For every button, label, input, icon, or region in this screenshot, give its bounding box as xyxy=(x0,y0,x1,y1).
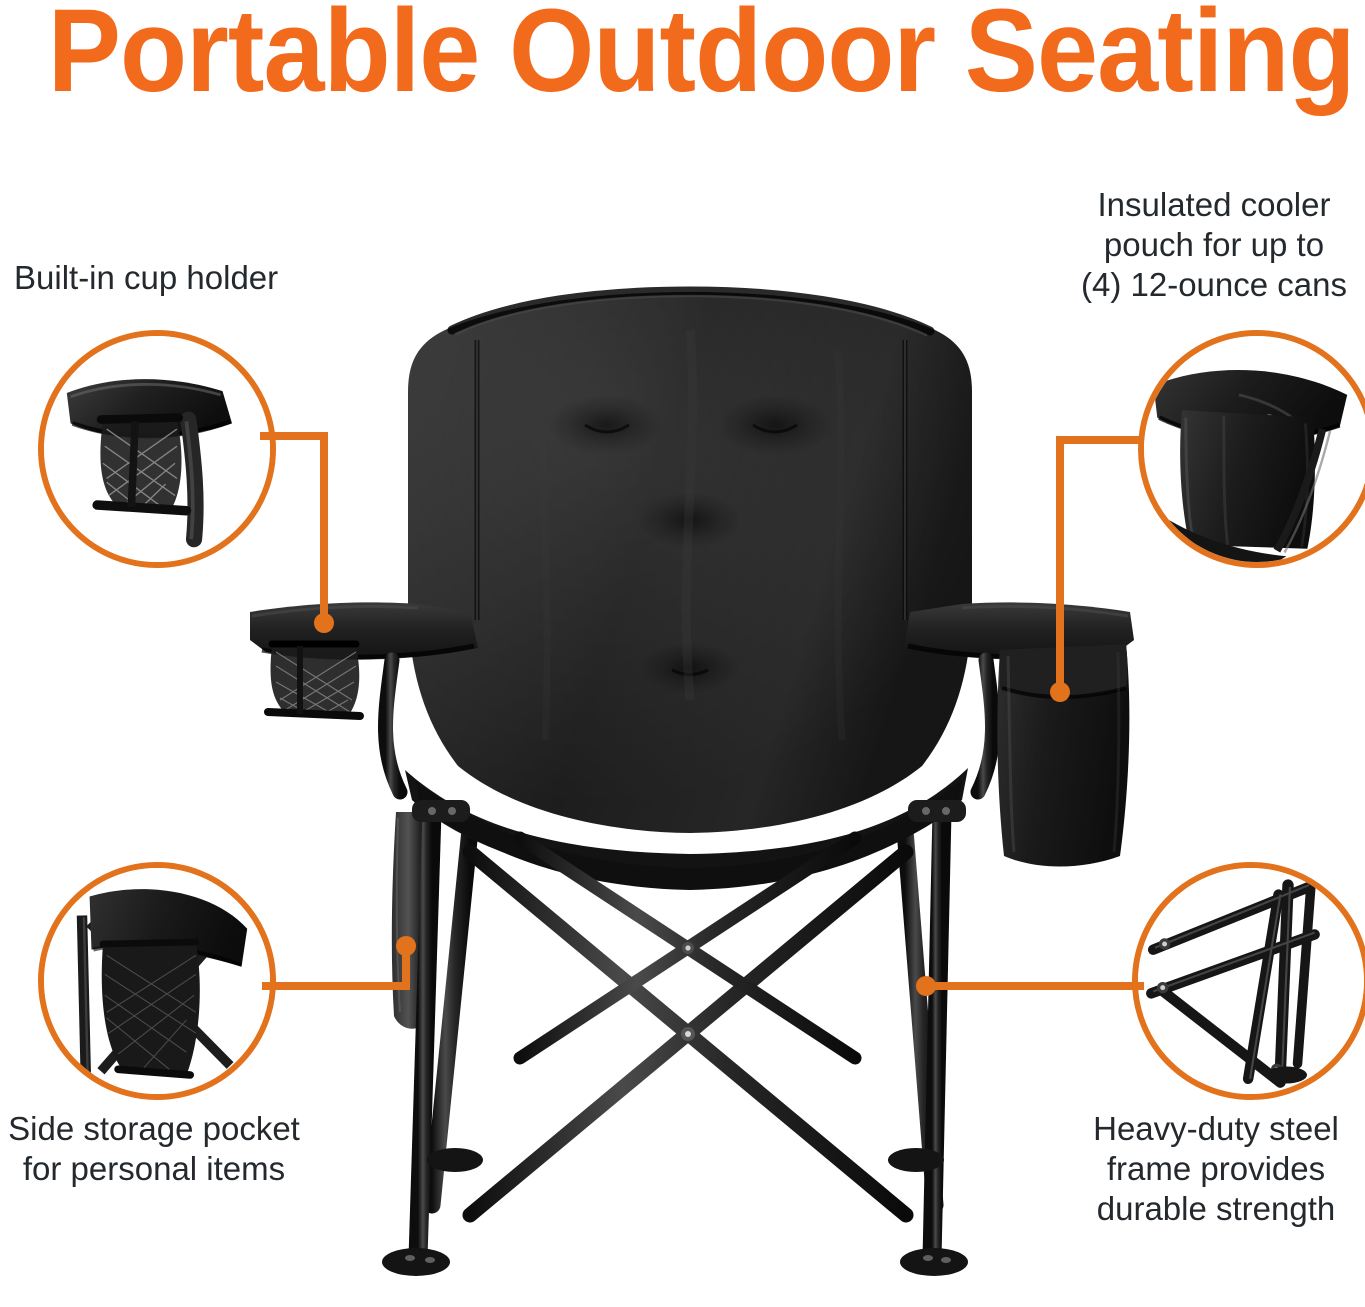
leader-dot-frame xyxy=(916,976,936,996)
callout-caption-pocket: Side storage pocket for personal items xyxy=(4,1109,304,1189)
leader-line-frame-horizontal xyxy=(922,982,1144,990)
leader-line-cupholder-vertical xyxy=(320,432,328,622)
leader-dot-pocket xyxy=(396,936,416,956)
leader-line-cupholder-horizontal xyxy=(260,432,328,440)
leader-line-cooler-vertical xyxy=(1056,436,1064,690)
leader-dot-cooler xyxy=(1050,682,1070,702)
inset-circle-cooler xyxy=(1138,330,1365,568)
leader-dot-cupholder xyxy=(314,613,334,633)
infographic-page: Portable Outdoor Seating xyxy=(0,0,1365,1307)
callout-caption-cupholder: Built-in cup holder xyxy=(14,258,434,298)
callout-caption-cooler: Insulated cooler pouch for up to (4) 12-… xyxy=(1069,185,1359,305)
inset-circle-frame xyxy=(1132,862,1365,1100)
callout-caption-frame: Heavy-duty steel frame provides durable … xyxy=(1071,1109,1361,1229)
inset-circle-cupholder xyxy=(38,330,276,568)
leader-line-pocket-horizontal xyxy=(262,982,410,990)
leader-line-cooler-horizontal xyxy=(1056,436,1142,444)
inset-circle-pocket xyxy=(38,862,276,1100)
